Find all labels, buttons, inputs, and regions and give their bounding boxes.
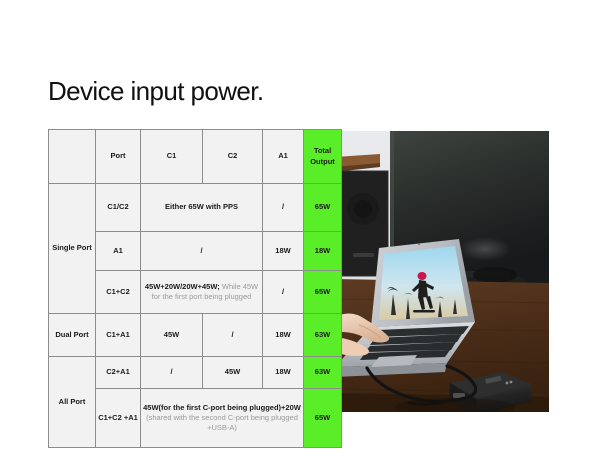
product-photo — [335, 131, 549, 412]
row-port-c1-plus-a1: C1+A1 — [96, 314, 141, 357]
device-input-power-table: Port C1 C2 A1 Total Output Single Port C… — [48, 129, 342, 448]
row-port-c1-c2: C1/C2 — [96, 184, 141, 232]
header-c1: C1 — [141, 130, 203, 184]
row-total-output: 65W — [304, 389, 342, 448]
header-group-blank — [49, 130, 96, 184]
cell-strong-text: 45W+20W/20W+45W; — [145, 282, 220, 291]
row-a1-value: 18W — [263, 314, 304, 357]
row-total-output: 18W — [304, 232, 342, 271]
row-port-a1: A1 — [96, 232, 141, 271]
table-row: Single Port C1/C2 Either 65W with PPS / … — [49, 184, 342, 232]
desk-setup-illustration — [335, 131, 549, 412]
row-c1c2-merged-either-65w: Either 65W with PPS — [141, 184, 263, 232]
row-c1c2-merged-slash: / — [141, 232, 263, 271]
row-c1-value: / — [141, 357, 203, 389]
header-a1: A1 — [263, 130, 304, 184]
row-a1-value: / — [263, 271, 304, 314]
row-total-output: 63W — [304, 357, 342, 389]
header-c2: C2 — [203, 130, 263, 184]
row-c2-value: / — [203, 314, 263, 357]
row-a1-value: 18W — [263, 232, 304, 271]
table-row: All Port C2+A1 / 45W 18W 63W — [49, 357, 342, 389]
row-port-c1-plus-c2: C1+C2 — [96, 271, 141, 314]
table-header-row: Port C1 C2 A1 Total Output — [49, 130, 342, 184]
row-c2-value: 45W — [203, 357, 263, 389]
cell-strong-text: 45W(for the first C-port being plugged)+… — [143, 403, 301, 412]
row-c1c2a1-merged-shared-power: 45W(for the first C-port being plugged)+… — [141, 389, 304, 448]
page-title: Device input power. — [48, 77, 264, 106]
cell-note-text: (shared with the second C-port being plu… — [146, 413, 298, 432]
row-port-c1-c2-a1: C1+C2 +A1 — [96, 389, 141, 448]
row-a1-value: 18W — [263, 357, 304, 389]
row-a1-value: / — [263, 184, 304, 232]
slide-canvas: Device input power. — [0, 0, 600, 450]
row-c1c2-merged-split-power: 45W+20W/20W+45W; While 45W for the first… — [141, 271, 263, 314]
row-total-output: 63W — [304, 314, 342, 357]
row-total-output: 65W — [304, 184, 342, 232]
group-label-dual-port: Dual Port — [49, 314, 96, 357]
table-row: Dual Port C1+A1 45W / 18W 63W — [49, 314, 342, 357]
row-port-c2-plus-a1: C2+A1 — [96, 357, 141, 389]
header-total-output: Total Output — [304, 130, 342, 184]
group-label-all-port: All Port — [49, 357, 96, 448]
header-port: Port — [96, 130, 141, 184]
row-total-output: 65W — [304, 271, 342, 314]
group-label-single-port: Single Port — [49, 184, 96, 314]
row-c1-value: 45W — [141, 314, 203, 357]
